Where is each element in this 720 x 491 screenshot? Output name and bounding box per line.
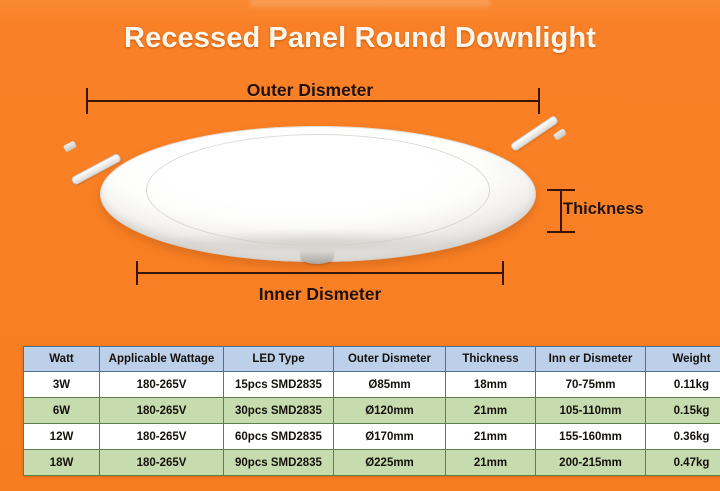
cell-thickness: 21mm [446, 450, 536, 476]
thickness-cap-bottom [547, 231, 575, 233]
panel-highlight [184, 134, 434, 180]
cell-applicable-wattage: 180-265V [100, 372, 224, 398]
thickness-dimension-line [560, 190, 562, 232]
cell-outer-dismeter: Ø225mm [334, 450, 446, 476]
column-header-outer-dismeter: Outer Dismeter [334, 347, 446, 372]
cell-thickness: 21mm [446, 398, 536, 424]
inner-diameter-label: Inner Dismeter [0, 284, 640, 305]
led-panel-illustration [88, 118, 548, 274]
cell-weight: 0.15kg [646, 398, 720, 424]
cell-watt: 3W [24, 372, 100, 398]
cell-thickness: 18mm [446, 372, 536, 398]
column-header-applicable-wattage: Applicable Wattage [100, 347, 224, 372]
cell-thickness: 21mm [446, 424, 536, 450]
cell-applicable-wattage: 180-265V [100, 424, 224, 450]
column-header-led-type: LED Type [224, 347, 334, 372]
table-row: 18W 180-265V 90pcs SMD2835 Ø225mm 21mm 2… [24, 450, 720, 476]
cell-inner-dismeter: 200-215mm [536, 450, 646, 476]
inner-diameter-dimension-line [138, 272, 504, 274]
spring-clip-right-tip [553, 128, 567, 141]
cell-weight: 0.11kg [646, 372, 720, 398]
table-row: 6W 180-265V 30pcs SMD2835 Ø120mm 21mm 10… [24, 398, 720, 424]
outer-diameter-dimension-line [88, 100, 540, 102]
outer-diameter-cap-left [86, 88, 88, 114]
inner-diameter-cap-right [502, 261, 504, 285]
cell-inner-dismeter: 155-160mm [536, 424, 646, 450]
table-header-row: Watt Applicable Wattage LED Type Outer D… [24, 347, 720, 372]
column-header-thickness: Thickness [446, 347, 536, 372]
driver-connector-tab [301, 251, 333, 264]
cell-weight: 0.47kg [646, 450, 720, 476]
cell-inner-dismeter: 105-110mm [536, 398, 646, 424]
cell-inner-dismeter: 70-75mm [536, 372, 646, 398]
cell-applicable-wattage: 180-265V [100, 398, 224, 424]
cell-watt: 12W [24, 424, 100, 450]
cell-led-type: 60pcs SMD2835 [224, 424, 334, 450]
cell-led-type: 90pcs SMD2835 [224, 450, 334, 476]
spring-clip-right [509, 115, 559, 153]
specification-table: Watt Applicable Wattage LED Type Outer D… [23, 346, 720, 476]
table-row: 12W 180-265V 60pcs SMD2835 Ø170mm 21mm 1… [24, 424, 720, 450]
column-header-watt: Watt [24, 347, 100, 372]
table-row: 3W 180-265V 15pcs SMD2835 Ø85mm 18mm 70-… [24, 372, 720, 398]
cell-weight: 0.36kg [646, 424, 720, 450]
spring-clip-left-tip [63, 141, 77, 153]
thickness-cap-top [547, 189, 575, 191]
cell-watt: 6W [24, 398, 100, 424]
cell-outer-dismeter: Ø170mm [334, 424, 446, 450]
cell-applicable-wattage: 180-265V [100, 450, 224, 476]
cell-led-type: 30pcs SMD2835 [224, 398, 334, 424]
inner-diameter-cap-left [136, 261, 138, 285]
cell-outer-dismeter: Ø85mm [334, 372, 446, 398]
top-sheen-band [250, 0, 490, 9]
column-header-inner-dismeter: Inn er Dismeter [536, 347, 646, 372]
product-spec-sheet: Recessed Panel Round Downlight Outer Dis… [0, 0, 720, 491]
cell-led-type: 15pcs SMD2835 [224, 372, 334, 398]
column-header-weight: Weight [646, 347, 720, 372]
page-title: Recessed Panel Round Downlight [0, 22, 720, 55]
outer-diameter-label: Outer Dismeter [0, 80, 620, 101]
cell-outer-dismeter: Ø120mm [334, 398, 446, 424]
thickness-label: Thickness [563, 200, 644, 219]
cell-watt: 18W [24, 450, 100, 476]
outer-diameter-cap-right [538, 88, 540, 114]
